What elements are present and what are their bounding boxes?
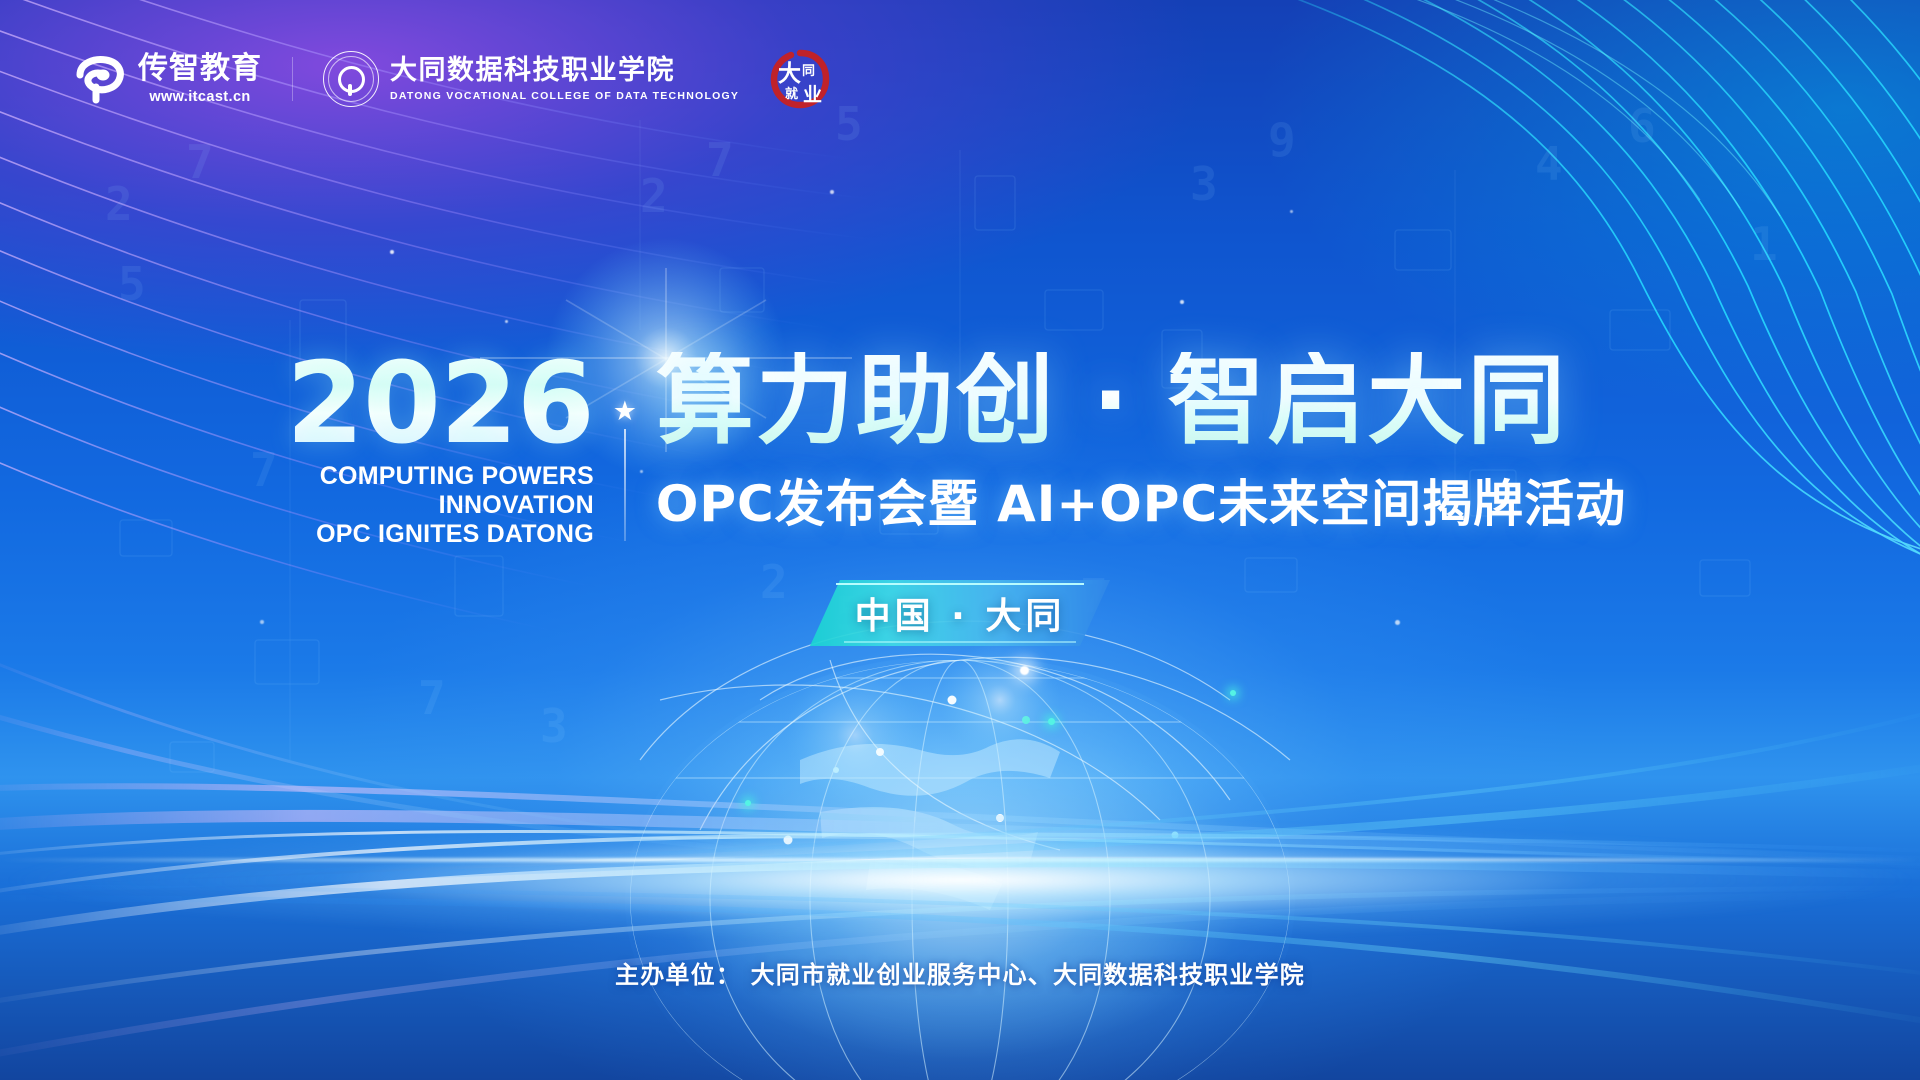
logo-bar: 传智教育 www.itcast.cn 大同数据科技职业学院 DATONG VOC… [74, 48, 831, 110]
itcast-name-cn: 传智教育 [138, 54, 262, 84]
year-2026: 2026 [286, 356, 594, 452]
college-seal-icon [323, 51, 379, 107]
svg-text:9: 9 [1268, 113, 1296, 167]
title-row: 2026 COMPUTING POWERS INNOVATION OPC IGN… [294, 352, 1626, 549]
logo-college[interactable]: 大同数据科技职业学院 DATONG VOCATIONAL COLLEGE OF … [323, 51, 739, 107]
svg-text:4: 4 [1535, 137, 1563, 191]
svg-text:7: 7 [418, 671, 446, 725]
itcast-logo-icon [74, 53, 126, 105]
page-subtitle: OPC发布会暨 AI+OPC未来空间揭牌活动 [656, 464, 1626, 536]
organizer-footer: 主办单位： 大同市就业创业服务中心、大同数据科技职业学院 [0, 955, 1920, 990]
year-and-english-column: 2026 COMPUTING POWERS INNOVATION OPC IGN… [294, 352, 594, 549]
location-badge: 中国 · 大同 [810, 580, 1110, 646]
stamp-char-ye: 业 [803, 84, 822, 106]
poster-canvas: 2 7 5 2 7 5 3 9 4 6 7 2 5 7 7 3 1 [0, 0, 1920, 1080]
datong-employment-stamp-icon[interactable]: 大 同 就 业 [769, 48, 831, 110]
stamp-char-da: 大 [778, 61, 801, 87]
svg-text:2: 2 [105, 177, 133, 231]
college-seal-core [338, 66, 365, 93]
svg-text:2: 2 [640, 169, 668, 223]
star-icon: ★ [613, 398, 637, 425]
english-line-3: OPC IGNITES DATONG [316, 520, 594, 549]
horizon-line [0, 858, 1920, 862]
badge-top-line [836, 583, 1084, 585]
page-title: 算力助创 · 智启大同 [656, 352, 1626, 452]
location-badge-wrap: 中国 · 大同 [0, 580, 1920, 646]
badge-bottom-line [844, 641, 1076, 643]
svg-text:6: 6 [1628, 99, 1656, 153]
stamp-char-jiu: 就 [785, 86, 798, 102]
star-divider: ★ [594, 352, 656, 541]
college-name-cn: 大同数据科技职业学院 [390, 57, 739, 84]
college-name-en: DATONG VOCATIONAL COLLEGE OF DATA TECHNO… [390, 91, 739, 102]
vertical-divider-line [624, 429, 626, 541]
svg-text:7: 7 [186, 135, 214, 189]
svg-text:1: 1 [1750, 217, 1778, 271]
title-block: 2026 COMPUTING POWERS INNOVATION OPC IGN… [0, 352, 1920, 549]
svg-text:5: 5 [118, 257, 146, 311]
svg-text:7: 7 [706, 133, 734, 187]
english-tagline: COMPUTING POWERS INNOVATION OPC IGNITES … [316, 462, 594, 549]
stamp-char-tong: 同 [802, 64, 815, 79]
itcast-url: www.itcast.cn [149, 90, 250, 105]
svg-text:5: 5 [835, 97, 863, 151]
svg-text:3: 3 [1190, 157, 1218, 211]
location-text: 中国 · 大同 [855, 587, 1066, 639]
main-title-column: 算力助创 · 智启大同 OPC发布会暨 AI+OPC未来空间揭牌活动 [656, 352, 1626, 536]
english-line-1: COMPUTING POWERS [316, 462, 594, 491]
english-line-2: INNOVATION [316, 491, 594, 520]
logo-itcast[interactable]: 传智教育 www.itcast.cn [74, 53, 262, 105]
logo-divider [292, 57, 293, 101]
horizon-glow [0, 805, 1920, 955]
